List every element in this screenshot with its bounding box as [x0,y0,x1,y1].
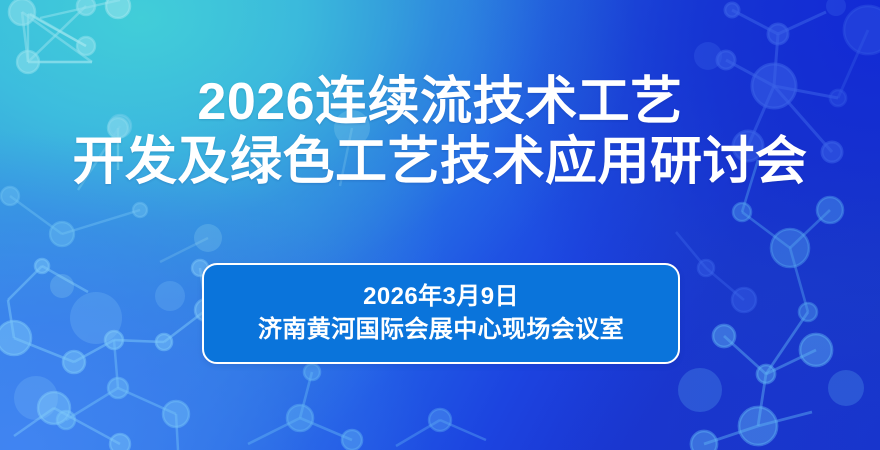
title-line-2: 开发及绿色工艺技术应用研讨会 [0,132,880,192]
event-info-box: 2026年3月9日 济南黄河国际会展中心现场会议室 [202,263,680,364]
conference-banner: 2026连续流技术工艺 开发及绿色工艺技术应用研讨会 2026年3月9日 济南黄… [0,0,880,450]
banner-title: 2026连续流技术工艺 开发及绿色工艺技术应用研讨会 [0,72,880,192]
banner-content: 2026连续流技术工艺 开发及绿色工艺技术应用研讨会 2026年3月9日 济南黄… [0,0,880,450]
event-date: 2026年3月9日 [363,282,519,312]
title-line-1: 2026连续流技术工艺 [0,72,880,132]
event-venue: 济南黄河国际会展中心现场会议室 [258,314,624,346]
